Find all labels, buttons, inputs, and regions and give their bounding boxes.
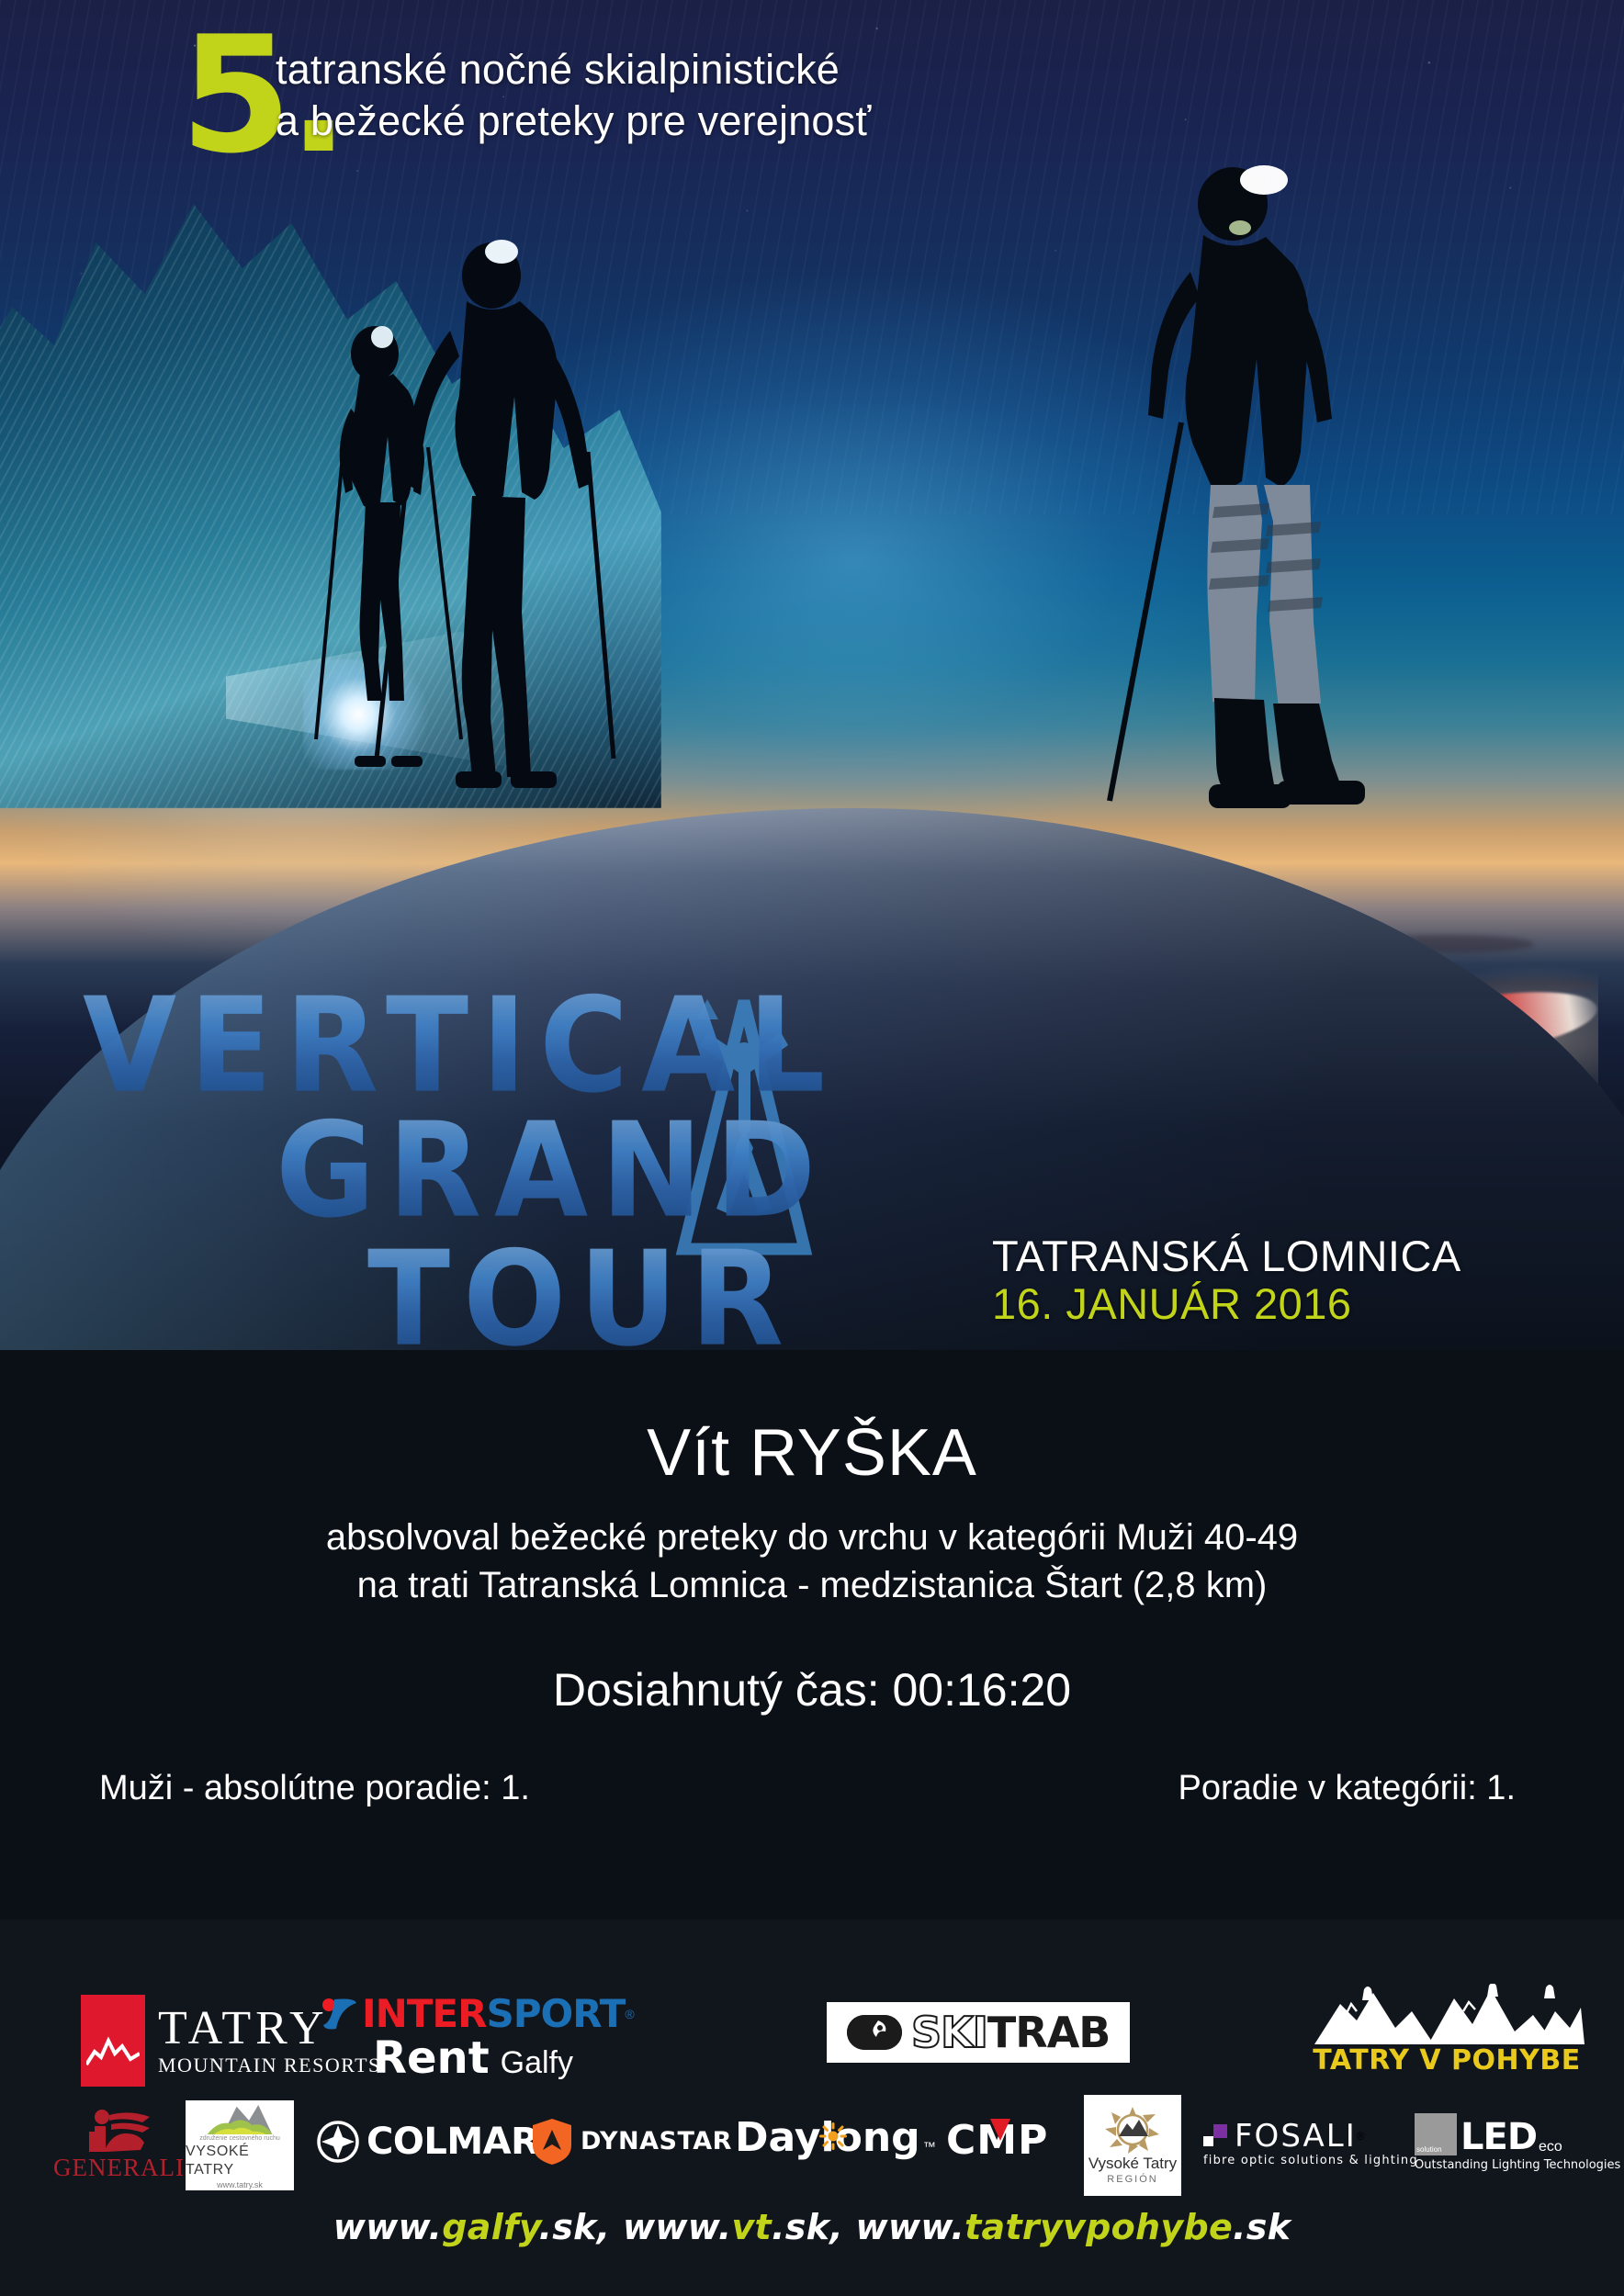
vysoke-tatry-sub: združenie cestovného ruchu [199, 2134, 280, 2143]
url-tatryvpohybe-prefix: www. [856, 2207, 965, 2247]
url-tatryvpohybe-suffix: .sk [1233, 2207, 1291, 2247]
tatry-mountain-range-icon [1309, 1984, 1585, 2046]
intersport-inter: INTER [362, 1995, 486, 2033]
fosali-squares-icon [1203, 2124, 1227, 2148]
led-solution-label: solution [1416, 2145, 1442, 2154]
intersport-sport: SPORT [486, 1995, 625, 2033]
sponsor-logo-cmp[interactable]: CMP [946, 2121, 1048, 2161]
sponsor-row-2: GENERALI združenie cestovného ruchu VYSO… [0, 2108, 1624, 2192]
url-vt-suffix: .sk, [772, 2207, 856, 2247]
led-solution-badge: solution [1415, 2113, 1457, 2155]
result-description-line-2: na trati Tatranská Lomnica - medzistanic… [0, 1561, 1624, 1609]
rank-category: Poradie v kategórii: 1. [1178, 1766, 1516, 1810]
header-line-1: tatranské nočné skialpinistické [276, 44, 1194, 96]
generali-title: GENERALI [53, 2154, 185, 2181]
colmar-title: COLMAR [367, 2123, 538, 2160]
mountain-peaks-icon [86, 2033, 140, 2070]
vysoke-tatry-region-sub: REGIÓN [1107, 2173, 1157, 2186]
intersport-galfy: Galfy [501, 2046, 573, 2079]
intersport-swoosh-icon [321, 1998, 358, 2031]
event-date: 16. JANUÁR 2016 [992, 1278, 1352, 1330]
sponsor-logo-daylong[interactable]: Daylong ™ [735, 2117, 936, 2159]
event-location: TATRANSKÁ LOMNICA [992, 1231, 1461, 1282]
sponsor-logo-vysoke-tatry-region[interactable]: Vysoké Tatry REGIÓN [1084, 2095, 1181, 2196]
sponsor-logo-dynastar[interactable]: DYNASTAR [533, 2119, 732, 2165]
url-galfy-suffix: .sk, [538, 2207, 623, 2247]
led-title: LED [1460, 2119, 1537, 2155]
registered-mark-icon: ® [1357, 2130, 1365, 2143]
tmr-red-square-icon [81, 1995, 145, 2087]
sponsor-logo-led-eco[interactable]: solution LED eco Outstanding Lighting Te… [1415, 2113, 1620, 2173]
registered-mark-icon: ® [625, 2007, 634, 2021]
led-eco-suffix: eco [1539, 2139, 1562, 2155]
sponsor-logo-fosali[interactable]: FOSALI ® fibre optic solutions & lightin… [1203, 2121, 1418, 2168]
sponsor-logo-intersport-rent-galfy[interactable]: INTER SPORT ® Rent Galfy [321, 1995, 635, 2081]
trademark-icon: ™ [923, 2139, 936, 2154]
url-vt-prefix: www. [623, 2207, 732, 2247]
vysoke-tatry-title: VYSOKÉ TATRY [186, 2143, 294, 2179]
climber-silhouette-right [1093, 147, 1396, 872]
climber-silhouette-center [358, 220, 625, 808]
fosali-title: FOSALI [1235, 2121, 1357, 2152]
skitrab-trab: TRAB [987, 2011, 1110, 2054]
sponsor-logo-tatry-v-pohybe[interactable]: TATRY V POHYBE [1309, 1984, 1585, 2076]
rank-overall: Muži - absolútne poradie: 1. [99, 1766, 530, 1810]
sponsor-logo-ski-trab[interactable]: SKI TRAB [827, 2002, 1130, 2063]
vysoke-tatry-url: www.tatry.sk [217, 2179, 263, 2190]
url-galfy-prefix: www. [333, 2207, 443, 2247]
tatry-v-pohybe-title: TATRY V POHYBE [1313, 2046, 1580, 2076]
daylong-sun-icon [819, 2122, 847, 2150]
header-subtitle: tatranské nočné skialpinistické a bežeck… [276, 44, 1194, 147]
header-line-2: a bežecké preteky pre verejnosť [276, 96, 1194, 147]
cmp-red-triangle-icon [988, 2119, 1012, 2141]
colmar-star-icon [317, 2121, 359, 2163]
dynastar-title: DYNASTAR [581, 2129, 732, 2155]
winged-lion-icon [82, 2106, 155, 2154]
url-tatryvpohybe-name[interactable]: tatryvpohybe [964, 2207, 1233, 2247]
sponsor-logo-colmar[interactable]: COLMAR [317, 2121, 538, 2163]
footer-urls: www.galfy.sk, www.vt.sk, www.tatryvpohyb… [0, 2206, 1624, 2248]
vysoke-tatry-sun-emblem-icon [1104, 2105, 1161, 2155]
sponsor-logo-generali[interactable]: GENERALI [53, 2106, 185, 2181]
achieved-time: Dosiahnutý čas: 00:16:20 [0, 1662, 1624, 1717]
sponsor-logo-vysoke-tatry[interactable]: združenie cestovného ruchu VYSOKÉ TATRY … [186, 2100, 294, 2190]
skitrab-mark-icon [847, 2015, 902, 2050]
result-description-line-1: absolvoval bežecké preteky do vrchu v ka… [0, 1514, 1624, 1561]
athlete-name: Vít RYŠKA [0, 1416, 1624, 1490]
intersport-rent: Rent [373, 2035, 490, 2081]
led-subtitle: Outstanding Lighting Technologies [1415, 2158, 1620, 2173]
hero-photo: 5. tatranské nočné skialpinistické a bež… [0, 0, 1624, 1350]
dynastar-shield-icon [533, 2119, 571, 2165]
vysoke-tatry-region-title: Vysoké Tatry [1088, 2155, 1177, 2173]
vysoke-tatry-mountains-icon [196, 2100, 284, 2134]
url-vt-name[interactable]: vt [731, 2207, 772, 2247]
url-galfy-name[interactable]: galfy [442, 2207, 538, 2247]
sponsor-row-1: TATRY MOUNTAIN RESORTS INTER SPORT ® Ren… [0, 1995, 1624, 2096]
result-block: Vít RYŠKA absolvoval bežecké preteky do … [0, 1350, 1624, 1919]
fosali-subtitle: fibre optic solutions & lighting [1203, 2154, 1418, 2168]
skitrab-ski: SKI [911, 2011, 987, 2054]
